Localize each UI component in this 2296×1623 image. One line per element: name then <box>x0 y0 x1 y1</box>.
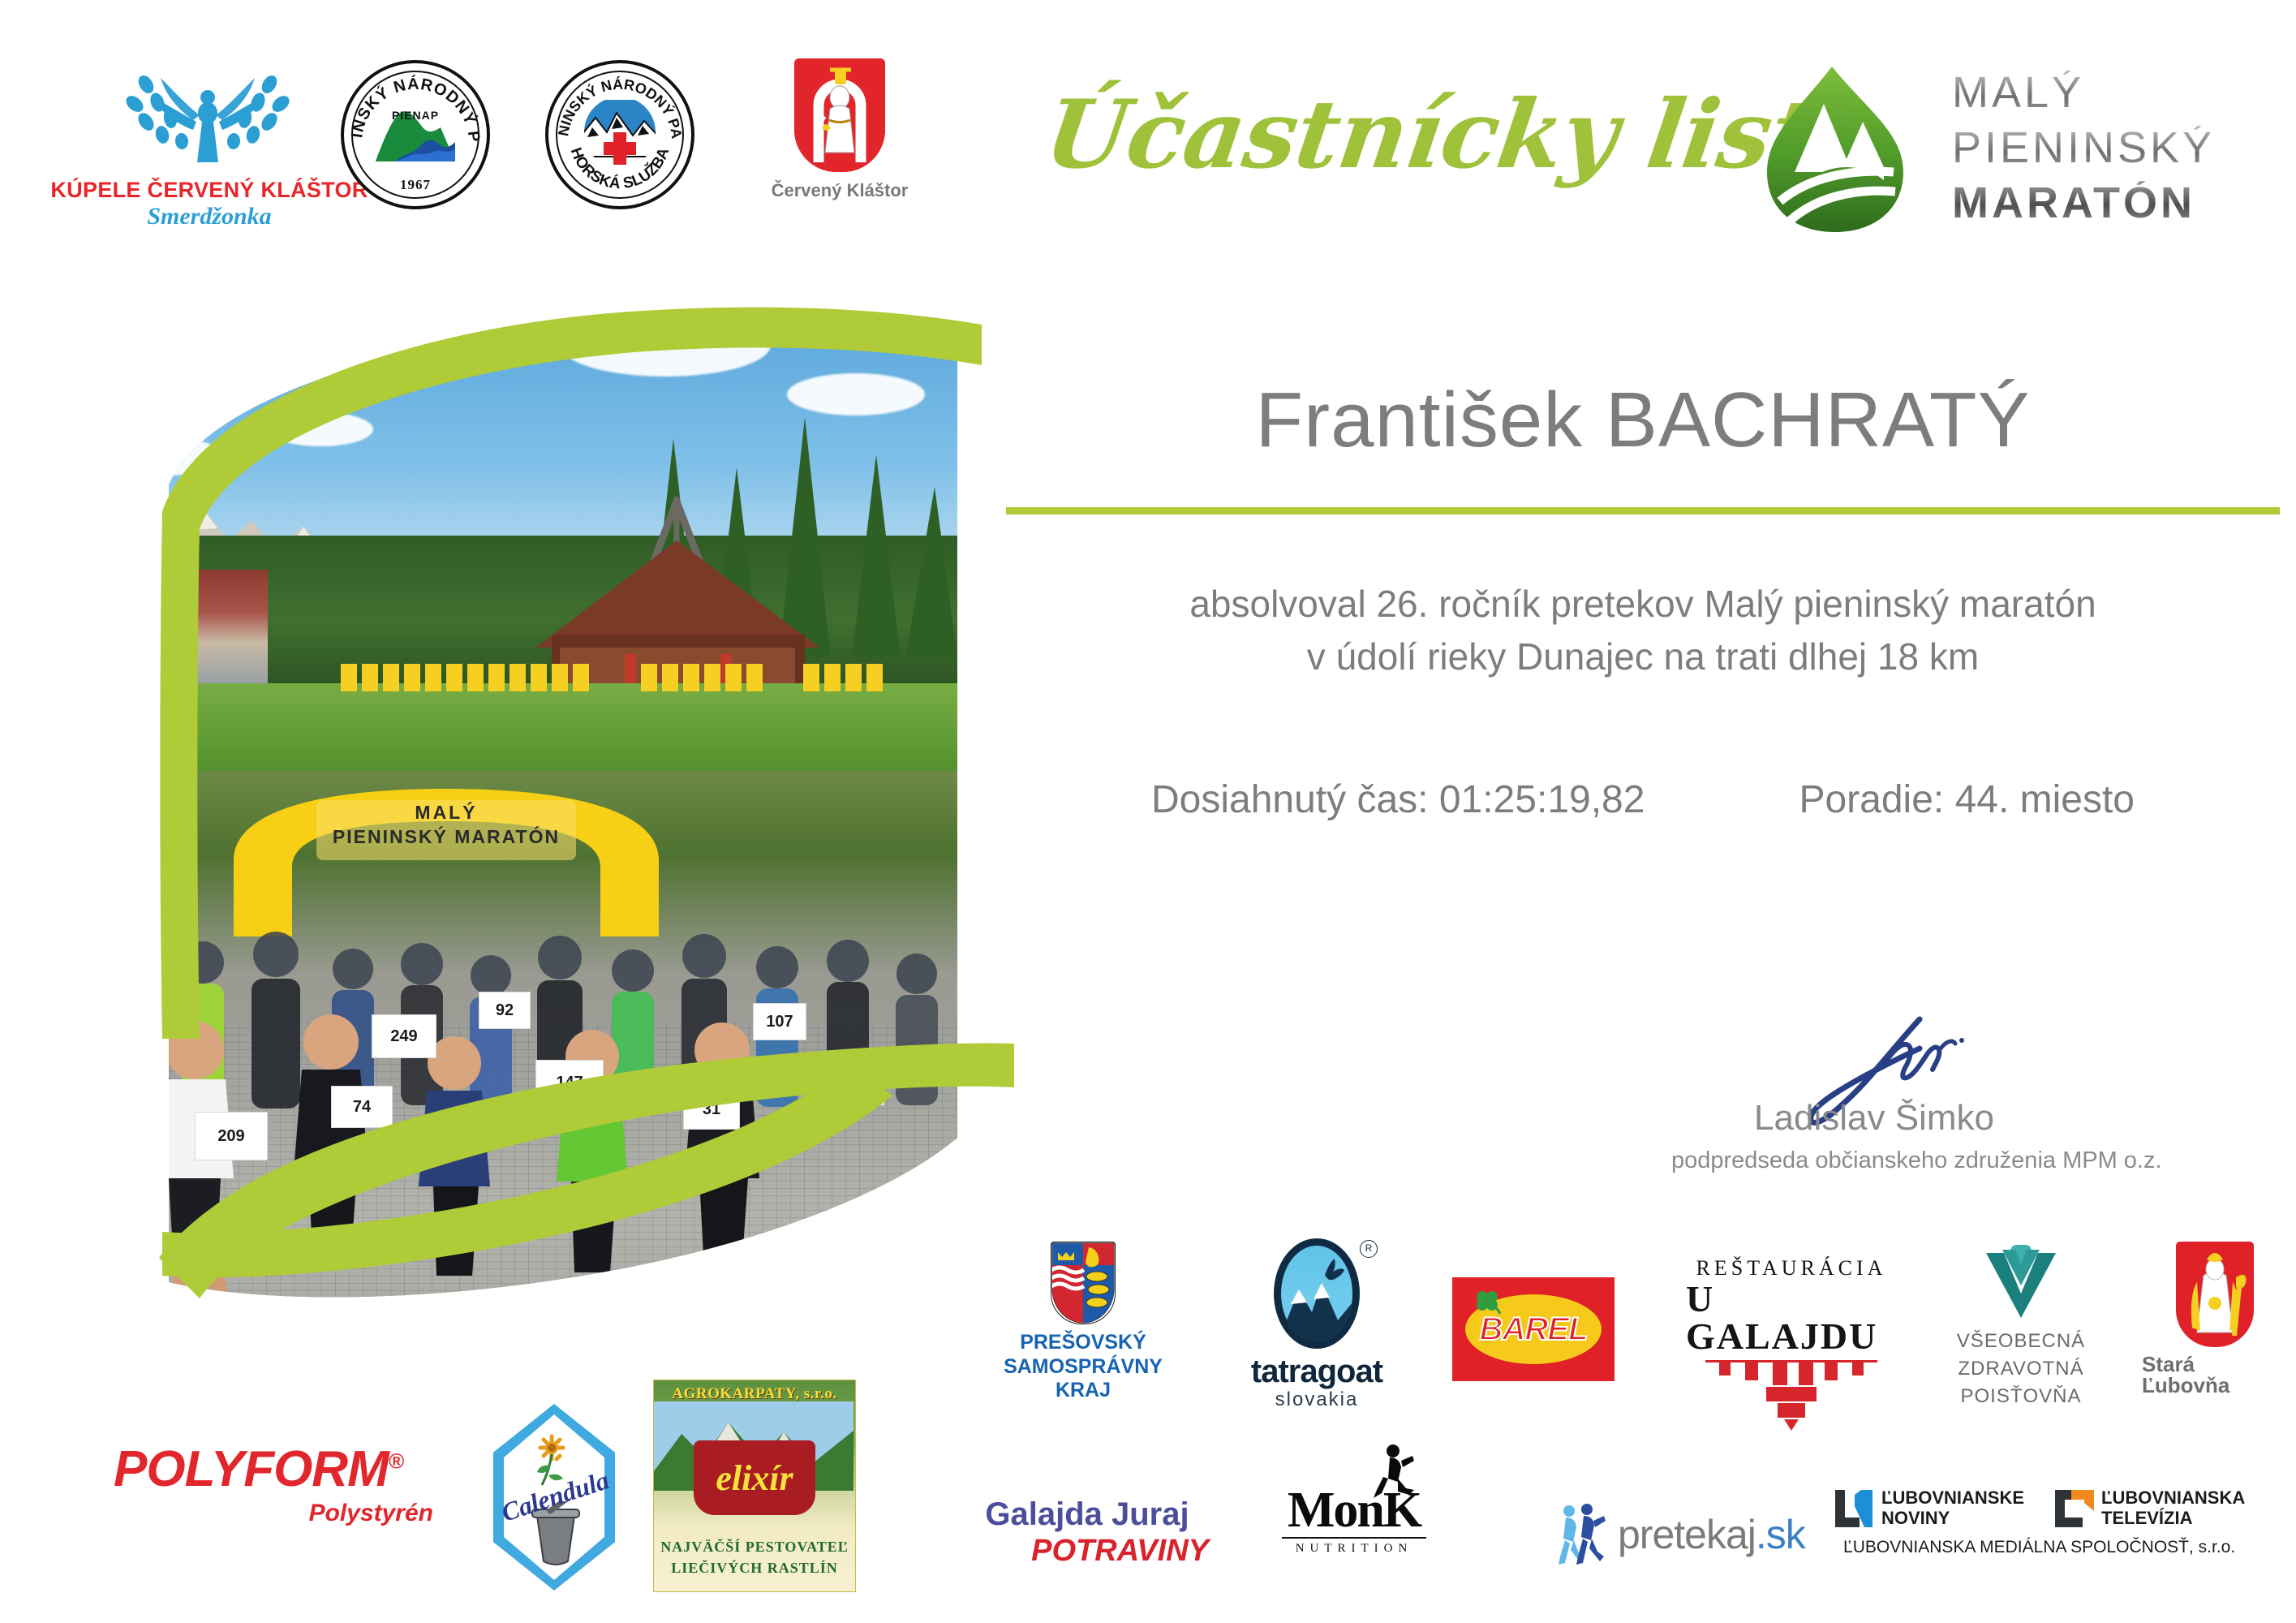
bib-number: 209 <box>195 1112 268 1160</box>
monk-wordmark: MonK <box>1288 1485 1421 1535</box>
logo-cerveny-klastor: Červený Kláštor <box>755 58 925 201</box>
sponsor-u-galajdu: REŠTAURÁCIA U GALAJDU <box>1686 1258 1897 1432</box>
vszp-heart-v-icon <box>1981 1245 2061 1319</box>
spectator-row <box>73 649 957 691</box>
u-galajdu-line1: REŠTAURÁCIA <box>1696 1258 1887 1279</box>
bib-number: 249 <box>372 1014 436 1058</box>
lubovnianska-televizia-block: ĽUBOVNIANSKA TELEVÍZIA <box>2053 1488 2245 1529</box>
sponsor-lubovnianska-medialna: ĽUBOVNIANSKE NOVINY ĽUBOVNIANSKA TELEVÍZ… <box>1834 1488 2245 1556</box>
photo-clip: MALÝ PIENINSKÝ MARATÓN <box>73 268 957 1371</box>
pienap-wordmark: PIENAP <box>392 109 439 122</box>
sponsor-monk-nutrition: MonK NUTRITION <box>1282 1485 1426 1555</box>
participant-name: František BACHRATÝ <box>1006 381 2280 459</box>
signature-name: Ladislav Šimko <box>1671 1100 2077 1136</box>
lubovnianske-noviny-block: ĽUBOVNIANSKE NOVINY <box>1834 1488 2024 1529</box>
svg-text:HORSKÁ SLUŽBA: HORSKÁ SLUŽBA <box>567 145 673 192</box>
sponsor-polyform: POLYFORM® Polystyrén <box>114 1444 438 1527</box>
sponsor-galajda-juraj: Galajda Juraj POTRAVINY <box>965 1498 1209 1566</box>
certificate-page: KÚPELE ČERVENÝ KLÁŠTOR Smerdžonka PIENIN… <box>0 0 2296 1623</box>
elixir-badge: elixír <box>694 1440 815 1515</box>
pretekaj-wordmark: pretekaj.sk <box>1618 1514 1805 1555</box>
photo-collage: MALÝ PIENINSKÝ MARATÓN <box>73 268 957 1371</box>
top-partner-logos: KÚPELE ČERVENÝ KLÁŠTOR Smerdžonka PIENIN… <box>73 49 941 235</box>
ln-line2: NOVINY <box>1881 1509 2024 1529</box>
bib-number: 31 <box>683 1089 740 1130</box>
svg-text:PIENINSKÝ NÁRODNÝ PARK: PIENINSKÝ NÁRODNÝ PARK <box>344 63 483 143</box>
kck-subtitle: Smerdžonka <box>147 203 271 231</box>
agrokarpaty-bottom-line1: NAJVÄČŠÍ PESTOVATEĽ <box>654 1539 855 1556</box>
mpm-leaf-mountain-icon <box>1744 58 1931 237</box>
page-title: Účastnícky list <box>1040 88 1783 182</box>
cerveny-klastor-caption: Červený Kláštor <box>772 180 909 201</box>
inflatable-start-arch <box>219 782 673 936</box>
sponsor-tatragoat: R tatragoat slovakia <box>1215 1238 1418 1410</box>
event-logo-line1: MALÝ <box>1952 71 2215 114</box>
two-runners-icon <box>1558 1503 1606 1566</box>
polyform-name-text: POLYFORM <box>114 1441 389 1497</box>
bib-number: 92 <box>479 992 531 1029</box>
sponsor-row-1: PREŠOVSKÝSAMOSPRÁVNYKRAJ R tatragoat slo… <box>990 1233 2288 1436</box>
pretekaj-name: pretekaj <box>1618 1512 1756 1557</box>
event-logo-line2: PIENINSKÝ <box>1952 126 2215 170</box>
lt-text: ĽUBOVNIANSKA TELEVÍZIA <box>2101 1488 2245 1528</box>
clover-icon <box>1473 1288 1501 1315</box>
logo-kupele-cerveny-klastor: KÚPELE ČERVENÝ KLÁŠTOR Smerdžonka <box>88 65 331 231</box>
lt-line1: ĽUBOVNIANSKA <box>2101 1488 2245 1509</box>
tatragoat-subtitle: slovakia <box>1275 1390 1359 1410</box>
monk-subtitle: NUTRITION <box>1296 1543 1413 1555</box>
ln-mark-icon <box>1834 1488 1876 1529</box>
sponsor-agrokarpaty-elixir: AGROKARPATY, s.r.o. PLAVNICA elixír NAJV… <box>653 1380 856 1592</box>
kck-title: KÚPELE ČERVENÝ KLÁŠTOR <box>50 179 368 201</box>
folk-ornament-icon <box>1714 1363 1868 1432</box>
barel-oval: BAREL <box>1465 1294 1602 1364</box>
result-time-label: Dosiahnutý čas: <box>1151 778 1429 821</box>
sponsor-stara-lubovna: Stará Ľubovňa <box>2142 1242 2288 1396</box>
result-time: Dosiahnutý čas: 01:25:19,82 <box>1151 781 1645 820</box>
pienap-year: 1967 <box>344 177 487 193</box>
sponsor-presovsky-samospravny-kraj: PREŠOVSKÝSAMOSPRÁVNYKRAJ <box>990 1242 1176 1403</box>
result-stats: Dosiahnutý čas: 01:25:19,82 Poradie: 44.… <box>1006 781 2280 820</box>
lt-line2: TELEVÍZIA <box>2101 1509 2245 1529</box>
vszp-caption: VŠEOBECNÁZDRAVOTNÁPOISŤOVŇA <box>1957 1328 2085 1410</box>
water-angel-icon <box>104 65 315 179</box>
bib-number: 107 <box>753 1003 806 1040</box>
result-time-value: 01:25:19,82 <box>1439 778 1645 821</box>
signature-role: podpredseda občianskeho združenia MPM o.… <box>1671 1149 2077 1173</box>
pretekaj-suffix: .sk <box>1756 1512 1805 1557</box>
polyform-title: POLYFORM® <box>114 1444 438 1495</box>
ln-text: ĽUBOVNIANSKE NOVINY <box>1881 1488 2024 1528</box>
polyform-registered-icon: ® <box>389 1449 403 1473</box>
signature-block: Ladislav Šimko podpredseda občianskeho z… <box>1671 1006 2077 1173</box>
result-place-value: 44. miesto <box>1955 778 2135 821</box>
cerveny-klastor-coat-of-arms-icon <box>794 58 885 172</box>
certificate-body: absolvoval 26. ročník pretekov Malý pien… <box>1006 578 2280 684</box>
sponsor-vszp: VŠEOBECNÁZDRAVOTNÁPOISŤOVŇA <box>1936 1245 2106 1410</box>
tatragoat-emblem-icon: R <box>1274 1238 1360 1349</box>
barel-panel: BAREL <box>1452 1277 1615 1381</box>
galajda-line1: Galajda Juraj <box>985 1498 1189 1530</box>
sponsor-pretekaj-sk: pretekaj.sk <box>1558 1503 1805 1566</box>
svg-text:PIENINSKÝ NÁRODNÝ PARK: PIENINSKÝ NÁRODNÝ PARK <box>548 63 685 140</box>
bib-number: 234 <box>818 1061 884 1105</box>
lt-mark-icon <box>2053 1488 2096 1529</box>
body-line-2: v údolí rieky Dunajec na trati dlhej 18 … <box>1006 631 2280 683</box>
barel-wordmark: BAREL <box>1480 1313 1588 1345</box>
sponsor-barel: BAREL <box>1452 1277 1615 1381</box>
galajda-line2: POTRAVINY <box>1031 1535 1209 1566</box>
polyform-subtitle: Polystyrén <box>114 1500 438 1527</box>
lubovnianska-medialna-caption: ĽUBOVNIANSKA MEDIÁLNA SPOLOČNOSŤ, s.r.o. <box>1843 1539 2235 1556</box>
event-logo: MALÝ PIENINSKÝ MARATÓN <box>1744 58 2215 237</box>
logo-horska-sluzba: PIENINSKÝ NÁRODNÝ PARK HORSKÁ SLUŽBA <box>545 60 694 209</box>
photo-race-start: MALÝ PIENINSKÝ MARATÓN <box>73 771 957 1371</box>
event-logo-line3: MARATÓN <box>1952 181 2215 225</box>
tatragoat-wordmark: tatragoat <box>1251 1355 1382 1388</box>
divider-rule <box>1006 507 2280 514</box>
logo-pienap: PIENINSKÝ NÁRODNÝ PARK PIENAP 1967 <box>341 60 490 209</box>
ln-line1: ĽUBOVNIANSKE <box>1881 1488 2024 1509</box>
registered-icon: R <box>1360 1240 1378 1258</box>
sponsor-row-2: Galajda Juraj POTRAVINY MonK NUTRITION <box>965 1485 2296 1607</box>
body-line-1: absolvoval 26. ročník pretekov Malý pien… <box>1006 578 2280 631</box>
result-place: Poradie: 44. miesto <box>1799 781 2135 820</box>
pienap-seal: PIENINSKÝ NÁRODNÝ PARK PIENAP 1967 <box>341 60 490 209</box>
sponsor-calendula: Calendula <box>493 1404 615 1591</box>
psk-coat-of-arms-icon <box>1051 1242 1116 1324</box>
u-galajdu-line2: U GALAJDU <box>1686 1281 1897 1355</box>
result-place-label: Poradie: <box>1799 778 1944 821</box>
agrokarpaty-bottom-line2: LIEČIVÝCH RASTLÍN <box>654 1560 855 1577</box>
bib-number: 147 <box>535 1060 604 1105</box>
elixir-wordmark: elixír <box>716 1457 793 1499</box>
psk-caption: PREŠOVSKÝSAMOSPRÁVNYKRAJ <box>1004 1331 1163 1403</box>
stara-lubovna-coat-of-arms-icon <box>2176 1242 2254 1347</box>
horska-sluzba-seal: PIENINSKÝ NÁRODNÝ PARK HORSKÁ SLUŽBA <box>545 60 694 209</box>
stara-lubovna-caption: Stará Ľubovňa <box>2142 1354 2288 1396</box>
horska-arc-text: PIENINSKÝ NÁRODNÝ PARK HORSKÁ SLUŽBA <box>548 63 691 206</box>
bib-number: 74 <box>331 1086 393 1128</box>
photo-amphitheatre <box>73 268 957 787</box>
